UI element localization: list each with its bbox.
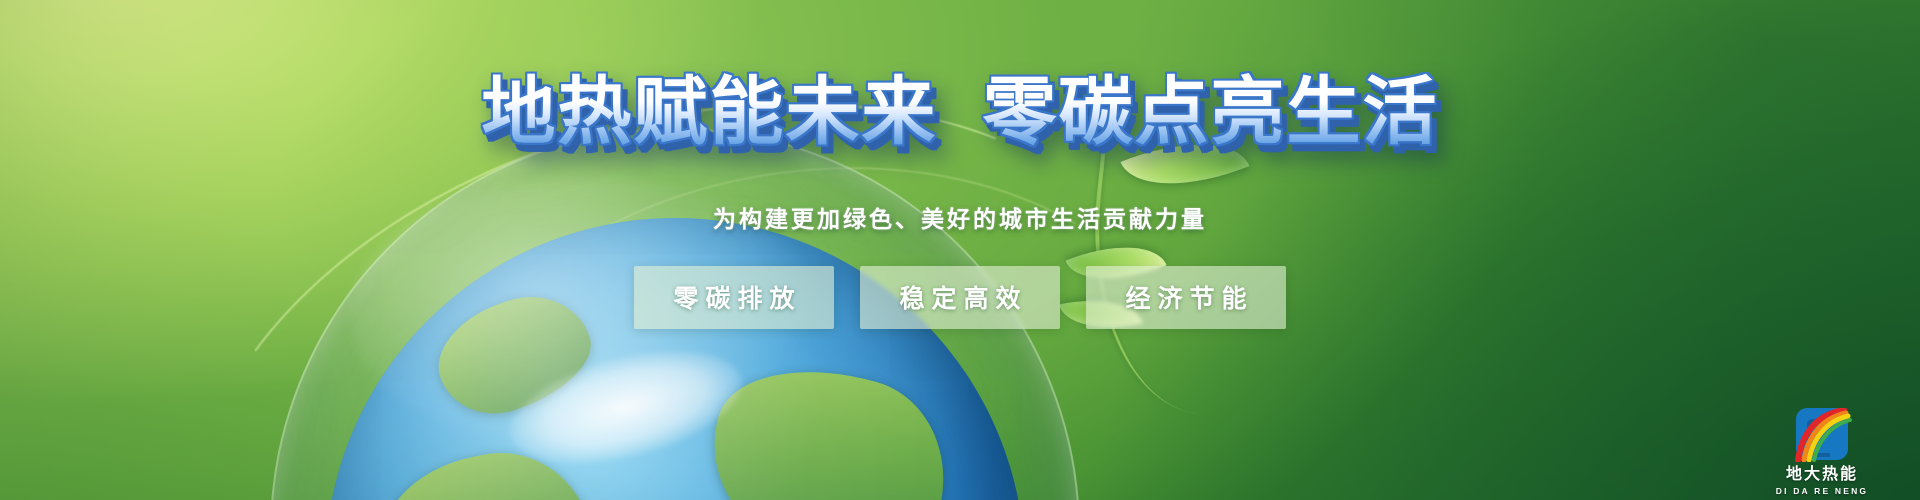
feature-badge-stable-efficient[interactable]: 稳定高效 [860, 266, 1060, 329]
company-logo[interactable]: 地大热能 DI DA RE NENG [1760, 408, 1884, 496]
logo-rainbow-swoosh-icon [1792, 408, 1852, 462]
didareneng-logo-icon [1792, 408, 1852, 462]
logo-name-cn: 地大热能 [1760, 466, 1884, 484]
feature-badge-zero-carbon[interactable]: 零碳排放 [634, 266, 834, 329]
promo-banner: 地热赋能未来 零碳点亮生活 为构建更加绿色、美好的城市生活贡献力量 零碳排放 稳… [0, 0, 1920, 500]
feature-badge-list: 零碳排放 稳定高效 经济节能 [0, 266, 1920, 329]
logo-name-en: DI DA RE NENG [1760, 486, 1884, 496]
banner-title: 地热赋能未来 零碳点亮生活 [0, 52, 1920, 159]
feature-badge-economical[interactable]: 经济节能 [1086, 266, 1286, 329]
banner-subtitle: 为构建更加绿色、美好的城市生活贡献力量 [0, 200, 1920, 234]
banner-content: 地热赋能未来 零碳点亮生活 为构建更加绿色、美好的城市生活贡献力量 零碳排放 稳… [0, 0, 1920, 500]
